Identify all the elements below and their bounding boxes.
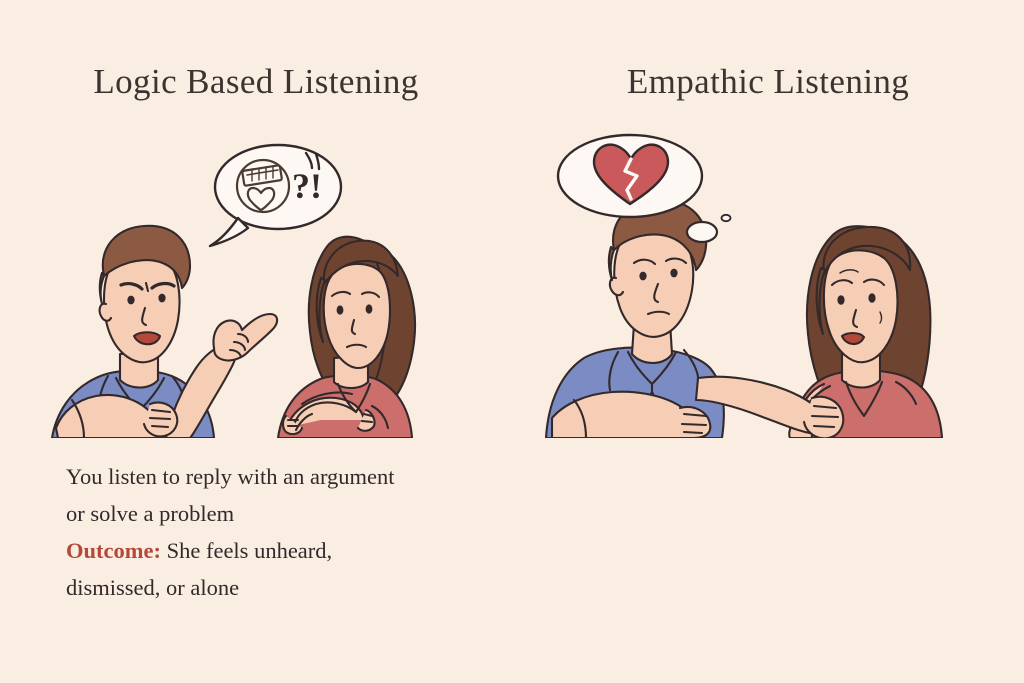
panel-title-right: Empathic Listening bbox=[512, 62, 1024, 102]
outcome-text-1-left: She feels unheard, bbox=[161, 538, 332, 563]
outcome-line-2-left: dismissed, or alone bbox=[66, 569, 518, 606]
thought-dot-large bbox=[687, 222, 717, 242]
speech-bubble-left: ?! bbox=[210, 145, 341, 246]
character-woman-left bbox=[278, 237, 415, 438]
panel-logic-based-listening: Logic Based Listening bbox=[0, 0, 512, 683]
panel-title-left: Logic Based Listening bbox=[0, 62, 512, 102]
illustration-empathic bbox=[512, 128, 1024, 438]
illustration-logic-based: ?! bbox=[0, 128, 512, 438]
thought-dot-small bbox=[722, 215, 731, 221]
character-man-left bbox=[52, 226, 277, 438]
panel-description-left: You listen to reply with an argument or … bbox=[66, 458, 518, 606]
infographic-root: Logic Based Listening bbox=[0, 0, 1024, 683]
description-line-1-left: You listen to reply with an argument bbox=[66, 458, 518, 495]
exclamation-question-marks: ?! bbox=[292, 166, 322, 206]
outcome-line-1-left: Outcome: She feels unheard, bbox=[66, 532, 518, 569]
outcome-label-left: Outcome: bbox=[66, 538, 161, 563]
panel-empathic-listening: Empathic Listening bbox=[512, 0, 1024, 683]
description-line-2-left: or solve a problem bbox=[66, 495, 518, 532]
